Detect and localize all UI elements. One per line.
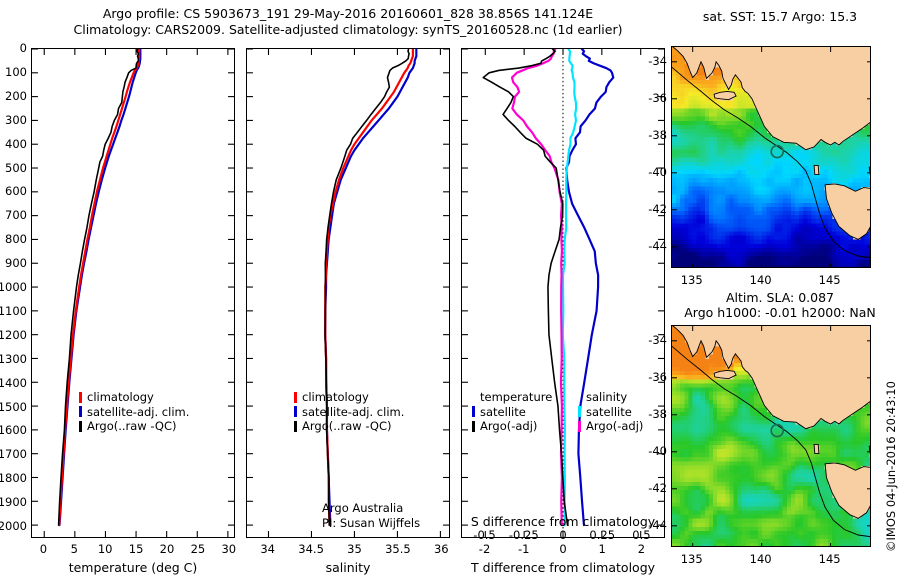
axis-tick-label: 36: [434, 542, 449, 556]
legend-label: Argo(..raw -QC): [87, 419, 177, 434]
attribution-pi: PI: Susan Wijffels: [322, 516, 420, 531]
latitude-tick-label: -42: [635, 481, 667, 495]
depth-tick-label: 1200: [0, 328, 27, 342]
difference-legend-temperature: temperaturesatelliteArgo(-adj): [472, 390, 552, 434]
difference-legend-salinity: salinitysatelliteArgo(-adj): [578, 390, 643, 434]
legend-color-swatch: [578, 421, 581, 432]
latitude-tick-label: -42: [635, 202, 667, 216]
legend-item: satellite-adj. clim.: [79, 405, 189, 420]
latitude-tick-label: -36: [635, 91, 667, 105]
legend-color-swatch: [472, 406, 475, 417]
latitude-tick-label: -38: [635, 128, 667, 142]
latitude-tick-label: -40: [635, 165, 667, 179]
depth-tick-label: 1400: [0, 376, 27, 390]
depth-tick-label: 700: [0, 208, 27, 222]
longitude-tick-label: 140: [750, 273, 772, 287]
latitude-tick-label: -44: [635, 239, 667, 253]
longitude-tick-label: 145: [819, 552, 841, 566]
axis-tick-label: 34: [260, 542, 275, 556]
depth-tick-label: 200: [0, 89, 27, 103]
legend-label: satellite-adj. clim.: [87, 405, 189, 420]
longitude-tick-label: 135: [681, 552, 703, 566]
legend-color-swatch: [79, 392, 82, 403]
latitude-tick-label: -34: [635, 54, 667, 68]
page-title: Argo profile: CS 5903673_191 29-May-2016…: [28, 6, 668, 38]
legend-label: climatology: [302, 390, 369, 405]
attribution-block: Argo Australia PI: Susan Wijffels: [322, 501, 420, 530]
depth-tick-label: 1800: [0, 471, 27, 485]
legend-label: climatology: [87, 390, 154, 405]
difference-temperature-axis-label: T difference from climatology: [471, 560, 655, 575]
legend-color-swatch: [79, 406, 82, 417]
axis-tick-label: 15: [129, 542, 144, 556]
depth-tick-label: 1500: [0, 400, 27, 414]
axis-tick-label: 1: [599, 542, 606, 556]
legend-item: Argo(..raw -QC): [294, 419, 404, 434]
legend-label: Argo(-adj): [586, 419, 643, 434]
depth-tick-label: 1000: [0, 280, 27, 294]
depth-tick-label: 1100: [0, 304, 27, 318]
axis-tick-label: 10: [98, 542, 113, 556]
latitude-tick-label: -34: [635, 333, 667, 347]
latitude-tick-label: -36: [635, 370, 667, 384]
sst-map-title: sat. SST: 15.7 Argo: 15.3: [670, 9, 890, 24]
axis-tick-label: 0.25: [589, 528, 615, 542]
sla-map-raster: [672, 326, 871, 547]
depth-tick-label: 100: [0, 65, 27, 79]
axis-tick-label: -2: [479, 542, 490, 556]
longitude-tick-label: 140: [750, 552, 772, 566]
axis-tick-label: 0: [559, 528, 566, 542]
legend-item: climatology: [79, 390, 189, 405]
temperature-legend: climatologysatellite-adj. clim.Argo(..ra…: [79, 390, 189, 434]
attribution-org: Argo Australia: [322, 501, 420, 516]
legend-label: satellite-adj. clim.: [302, 405, 404, 420]
temperature-profile-plot: [32, 49, 234, 537]
difference-profile-panel[interactable]: [461, 48, 665, 538]
longitude-tick-label: 145: [819, 273, 841, 287]
sst-map[interactable]: [671, 46, 871, 268]
temperature-x-axis-label: temperature (deg C): [69, 560, 198, 575]
legend-color-swatch: [294, 392, 297, 403]
axis-tick-label: -0.25: [509, 528, 539, 542]
longitude-tick-label: 135: [681, 273, 703, 287]
sst-map-raster: [672, 47, 871, 268]
axis-tick-label: 5: [71, 542, 78, 556]
sst-map-title-line: sat. SST: 15.7 Argo: 15.3: [670, 9, 890, 24]
legend-color-swatch: [294, 406, 297, 417]
axis-tick-label: 20: [160, 542, 175, 556]
latitude-tick-label: -44: [635, 518, 667, 532]
axis-tick-label: 0: [40, 542, 47, 556]
depth-tick-label: 1300: [0, 352, 27, 366]
depth-tick-label: 0: [0, 41, 27, 55]
legend-color-swatch: [578, 406, 581, 417]
legend-label: Argo(-adj): [480, 419, 537, 434]
legend-color-swatch: [79, 421, 82, 432]
salinity-x-axis-label: salinity: [326, 560, 371, 575]
depth-tick-label: 1700: [0, 447, 27, 461]
depth-tick-label: 900: [0, 256, 27, 270]
difference-salinity-axis-label: S difference from climatology: [471, 514, 655, 529]
depth-tick-label: 400: [0, 137, 27, 151]
axis-tick-label: 0: [559, 542, 566, 556]
figure-canvas: Argo profile: CS 5903673_191 29-May-2016…: [0, 0, 900, 580]
legend-item: Argo(-adj): [578, 419, 643, 434]
depth-tick-label: 300: [0, 113, 27, 127]
axis-tick-label: 30: [221, 542, 236, 556]
legend-item: Argo(..raw -QC): [79, 419, 189, 434]
difference-profile-plot: [462, 49, 664, 537]
axis-tick-label: 2: [638, 542, 645, 556]
legend-item: Argo(-adj): [472, 419, 552, 434]
salinity-profile-panel[interactable]: [246, 48, 450, 538]
copyright-label: ©IMOS 04-Jun-2016 20:43:10: [884, 381, 898, 552]
axis-tick-label: 35: [347, 542, 362, 556]
axis-tick-label: 34.5: [298, 542, 324, 556]
depth-tick-label: 1900: [0, 495, 27, 509]
depth-tick-label: 800: [0, 232, 27, 246]
legend-item: satellite-adj. clim.: [294, 405, 404, 420]
depth-tick-label: 1600: [0, 423, 27, 437]
legend-label: satellite: [480, 405, 526, 420]
sla-map-title: Altim. SLA: 0.087 Argo h1000: -0.01 h200…: [670, 290, 890, 320]
title-line-2: Climatology: CARS2009. Satellite-adjuste…: [28, 22, 668, 38]
legend-item: satellite: [472, 405, 552, 420]
axis-tick-label: 25: [191, 542, 206, 556]
legend-header: salinity: [578, 390, 643, 405]
axis-tick-label: 35.5: [385, 542, 411, 556]
latitude-tick-label: -38: [635, 407, 667, 421]
sla-map-title-line-2: Argo h1000: -0.01 h2000: NaN: [670, 305, 890, 320]
legend-item: climatology: [294, 390, 404, 405]
latitude-tick-label: -40: [635, 444, 667, 458]
legend-item: satellite: [578, 405, 643, 420]
sla-map-title-line-1: Altim. SLA: 0.087: [670, 290, 890, 305]
legend-label: Argo(..raw -QC): [302, 419, 392, 434]
legend-color-swatch: [294, 421, 297, 432]
depth-tick-label: 600: [0, 184, 27, 198]
salinity-legend: climatologysatellite-adj. clim.Argo(..ra…: [294, 390, 404, 434]
depth-tick-label: 2000: [0, 519, 27, 533]
legend-label: satellite: [586, 405, 632, 420]
temperature-profile-panel[interactable]: [31, 48, 235, 538]
legend-header: temperature: [472, 390, 552, 405]
legend-color-swatch: [472, 421, 475, 432]
depth-tick-label: 500: [0, 161, 27, 175]
sla-map[interactable]: [671, 325, 871, 547]
axis-tick-label: -1: [518, 542, 529, 556]
axis-tick-label: -0.5: [473, 528, 495, 542]
salinity-profile-plot: [247, 49, 449, 537]
title-line-1: Argo profile: CS 5903673_191 29-May-2016…: [28, 6, 668, 22]
